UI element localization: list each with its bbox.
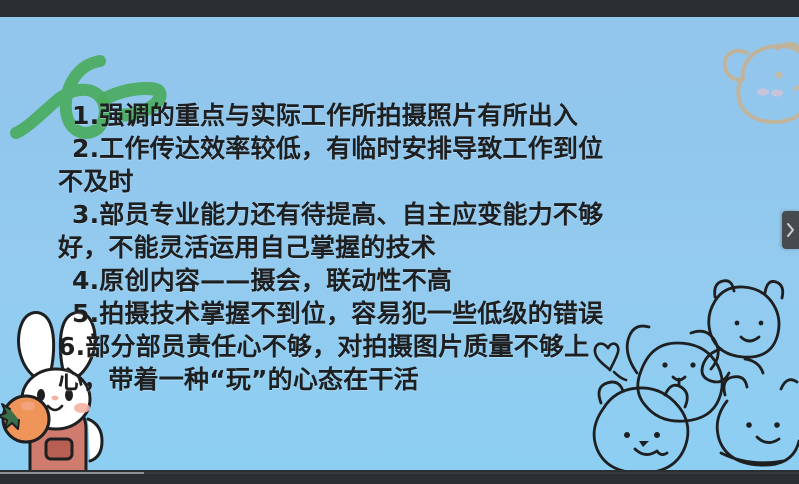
slide-line: 好，不能灵活运用自己掌握的技术	[58, 231, 772, 264]
slide-line: 2.工作传达效率较低，有临时安排导致工作到位	[72, 132, 772, 165]
slide-line: 3.部员专业能力还有待提高、自主应变能力不够	[72, 198, 772, 231]
slide-line: 不及时	[58, 165, 772, 198]
slide-line: 4.原创内容——摄会，联动性不高	[72, 264, 772, 297]
chevron-right-icon	[786, 223, 795, 237]
letterbox-top-bar	[0, 0, 799, 17]
slide-line: 6.部分部员责任心不够，对拍摄图片质量不够上	[58, 330, 772, 363]
slide-stage: 1.强调的重点与实际工作所拍摄照片有所出入 2.工作传达效率较低，有临时安排导致…	[0, 17, 799, 470]
slide-line: 心，带着一种“玩”的心态在干活	[58, 363, 772, 396]
video-player: 1.强调的重点与实际工作所拍摄照片有所出入 2.工作传达效率较低，有临时安排导致…	[0, 0, 799, 484]
slide-line: 1.强调的重点与实际工作所拍摄照片有所出入	[72, 99, 772, 132]
slide-line: 5.拍摄技术掌握不到位，容易犯一些低级的错误	[72, 297, 772, 330]
slide-text-block: 1.强调的重点与实际工作所拍摄照片有所出入 2.工作传达效率较低，有临时安排导致…	[72, 99, 772, 396]
side-panel-toggle-button[interactable]	[782, 211, 799, 249]
video-progress-fill	[0, 472, 144, 474]
video-progress-bar[interactable]	[0, 472, 799, 474]
